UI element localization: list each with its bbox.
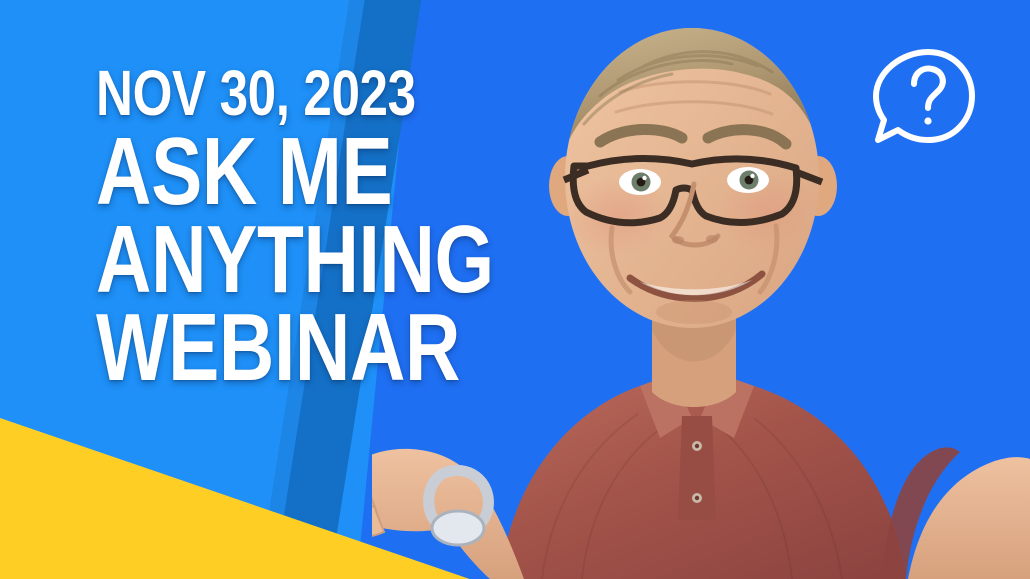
headline-line-3: WEBINAR bbox=[96, 304, 440, 392]
headline-line-1: ASK ME bbox=[96, 128, 440, 216]
headline-date: NOV 30, 2023 bbox=[96, 64, 440, 124]
headline-line-2: ANYTHING bbox=[96, 216, 440, 304]
headline-block: NOV 30, 2023 ASK ME ANYTHING WEBINAR bbox=[96, 64, 526, 392]
webinar-thumbnail: NOV 30, 2023 ASK ME ANYTHING WEBINAR bbox=[0, 0, 1030, 579]
question-speech-bubble-icon bbox=[868, 44, 980, 148]
